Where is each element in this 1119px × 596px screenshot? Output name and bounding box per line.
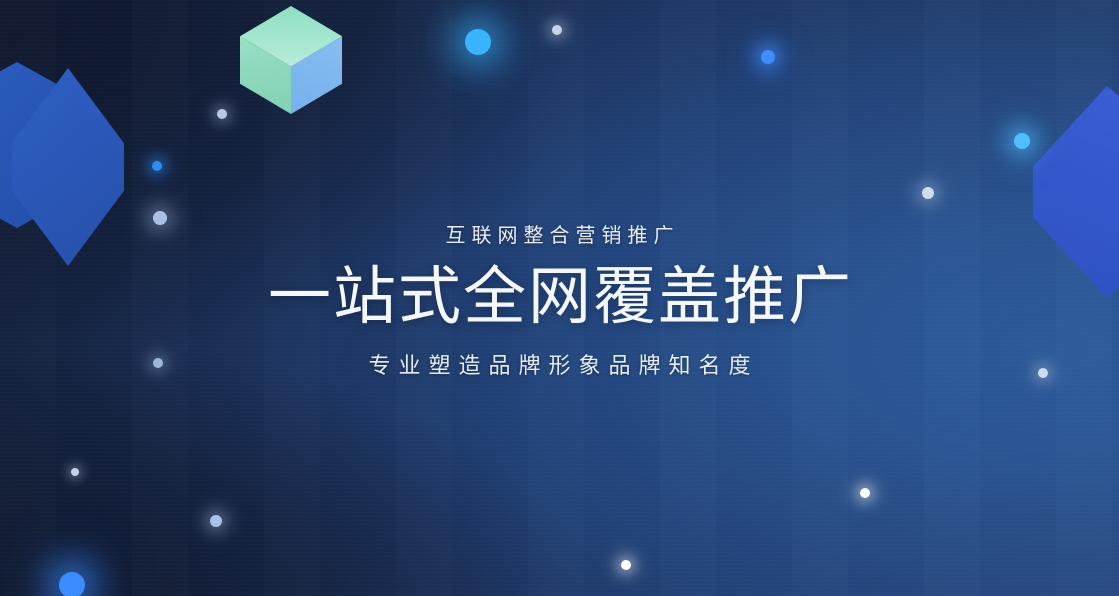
banner-canvas: 互联网整合营销推广 一站式全网覆盖推广 专业塑造品牌形象品牌知名度 [0, 0, 1119, 596]
hero-copy: 互联网整合营销推广 一站式全网覆盖推广 专业塑造品牌形象品牌知名度 [0, 222, 1119, 381]
headline-text: 一站式全网覆盖推广 [0, 262, 1119, 333]
eyebrow-text: 互联网整合营销推广 [0, 222, 1119, 248]
subline-text: 专业塑造品牌形象品牌知名度 [0, 353, 1119, 382]
isometric-cube-logo [240, 6, 342, 114]
